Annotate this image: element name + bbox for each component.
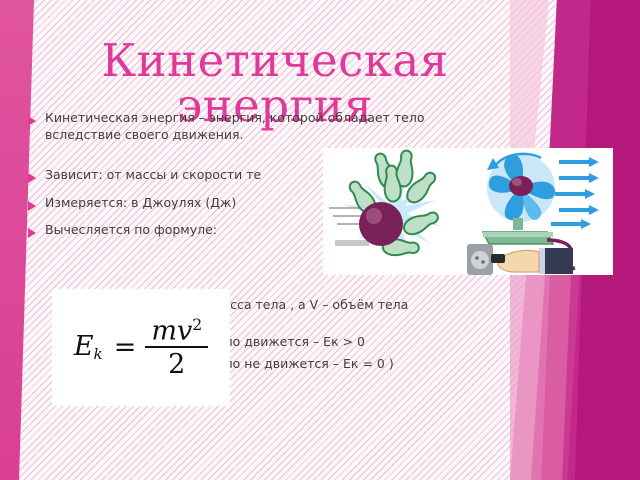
kinetic-energy-formula: Ek = mv2 2	[74, 317, 208, 379]
formula-card: Ek = mv2 2	[52, 289, 230, 406]
formula-numerator: mv2	[145, 317, 208, 347]
formula-symbol-m: m	[151, 315, 177, 346]
bullet-triangle-icon	[28, 173, 36, 183]
formula-subscript-k: k	[94, 345, 103, 363]
formula-equals-sign: =	[114, 334, 137, 361]
bullet-item-label: Кинетическая энергия – энергия, которой …	[45, 110, 498, 143]
formula-fraction: mv2 2	[145, 317, 208, 379]
bullet-item-definition: Кинетическая энергия – энергия, которой …	[28, 110, 498, 143]
bullet-triangle-icon	[28, 116, 36, 126]
bullet-item-label: Измеряется: в Джоулях (Дж)	[45, 195, 236, 212]
slide-canvas: Кинетическая энергия Кинетическая энерги…	[0, 0, 640, 480]
formula-exponent-2: 2	[192, 315, 202, 334]
formula-symbol-E: E	[74, 331, 94, 362]
bullet-triangle-icon	[28, 201, 36, 211]
slide-title-line-1: Кинетическая	[60, 38, 490, 83]
formula-symbol-v: v	[177, 315, 192, 346]
bullet-item-label: Зависит: от массы и скорости те	[45, 167, 261, 184]
illustration-svg	[323, 148, 613, 275]
bullet-triangle-icon	[28, 228, 36, 238]
illustration-image	[323, 148, 613, 275]
formula-denominator: 2	[168, 348, 185, 378]
formula-lhs: Ek	[74, 333, 105, 362]
bullet-item-label: Вычесляется по формуле:	[45, 222, 217, 239]
